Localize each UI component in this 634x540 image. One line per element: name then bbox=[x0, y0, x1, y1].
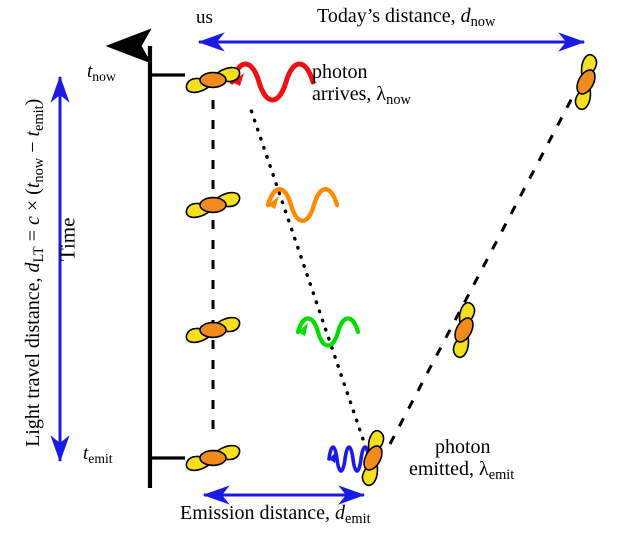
photon-arrives-line1: photon bbox=[312, 62, 411, 84]
photon-arrives-subscript: now bbox=[386, 92, 411, 108]
ltd-close: ) bbox=[22, 99, 44, 106]
ltd-minus: − bbox=[22, 137, 44, 158]
galaxy-us-t2 bbox=[186, 193, 239, 218]
emission-distance-symbol: d bbox=[335, 502, 345, 524]
ltd-t1-subscript: now bbox=[32, 158, 48, 183]
photon-emitted-text: emitted, bbox=[409, 458, 479, 480]
ltd-equals: = bbox=[22, 225, 44, 246]
galaxy-us-t-now bbox=[186, 68, 239, 93]
ltd-symbol: d bbox=[22, 263, 44, 273]
galaxy-distant-mid bbox=[441, 301, 488, 360]
photon-path bbox=[249, 104, 366, 448]
label-t-now: tnow bbox=[87, 62, 116, 83]
photon-arrives-text: arrives, bbox=[312, 83, 376, 105]
photon-arrives-line2: arrives, λnow bbox=[312, 84, 411, 106]
ltd-t2-subscript: emit bbox=[32, 105, 48, 131]
galaxy-us-t-emit bbox=[186, 446, 239, 471]
distance-arrows bbox=[60, 42, 584, 495]
photon-arrives-lambda: λ bbox=[376, 83, 386, 105]
galaxy-distant-t-emit bbox=[350, 429, 397, 488]
label-us: us bbox=[196, 8, 213, 29]
photon-path-dotted-line bbox=[249, 104, 366, 448]
today-distance-symbol: d bbox=[461, 5, 471, 27]
label-t-emit: temit bbox=[83, 444, 113, 465]
label-time-axis: Time bbox=[57, 169, 80, 309]
ltd-c: c bbox=[22, 216, 44, 225]
ltd-t2: t bbox=[22, 131, 44, 137]
t-now-subscript: now bbox=[92, 69, 116, 84]
ltd-text: Light travel distance, bbox=[22, 273, 44, 447]
label-light-travel-distance: Light travel distance, dLT = c × (tnow −… bbox=[23, 53, 45, 493]
worldline-distant-galaxy bbox=[390, 98, 572, 444]
t-emit-subscript: emit bbox=[88, 451, 112, 466]
emission-distance-text: Emission distance, bbox=[180, 502, 335, 524]
today-distance-subscript: now bbox=[471, 14, 496, 30]
photon-emitted-line2: emitted, λemit bbox=[409, 459, 514, 481]
label-photon-arrives: photon arrives, λnow bbox=[312, 62, 411, 105]
time-axis bbox=[150, 46, 185, 488]
ltd-times: × ( bbox=[22, 188, 44, 216]
label-photon-emitted: photon emitted, λemit bbox=[409, 437, 514, 480]
worldlines bbox=[213, 98, 572, 444]
wave-photon-now bbox=[232, 64, 313, 100]
label-emission-distance: Emission distance, demit bbox=[180, 503, 371, 525]
ltd-t1: t bbox=[22, 183, 44, 189]
label-today-distance: Today’s distance, dnow bbox=[317, 6, 495, 28]
photon-emitted-subscript: emit bbox=[489, 467, 515, 483]
wave-photon-green bbox=[298, 319, 358, 346]
photon-emitted-line1: photon bbox=[409, 437, 514, 459]
cosmology-spacetime-diagram: us Today’s distance, dnow photon arrives… bbox=[0, 0, 634, 540]
ltd-subscript: LT bbox=[32, 246, 48, 262]
today-distance-text: Today’s distance, bbox=[317, 5, 461, 27]
wave-photon-emit bbox=[329, 447, 369, 471]
photon-emitted-lambda: λ bbox=[479, 458, 489, 480]
emission-distance-subscript: emit bbox=[345, 511, 371, 527]
